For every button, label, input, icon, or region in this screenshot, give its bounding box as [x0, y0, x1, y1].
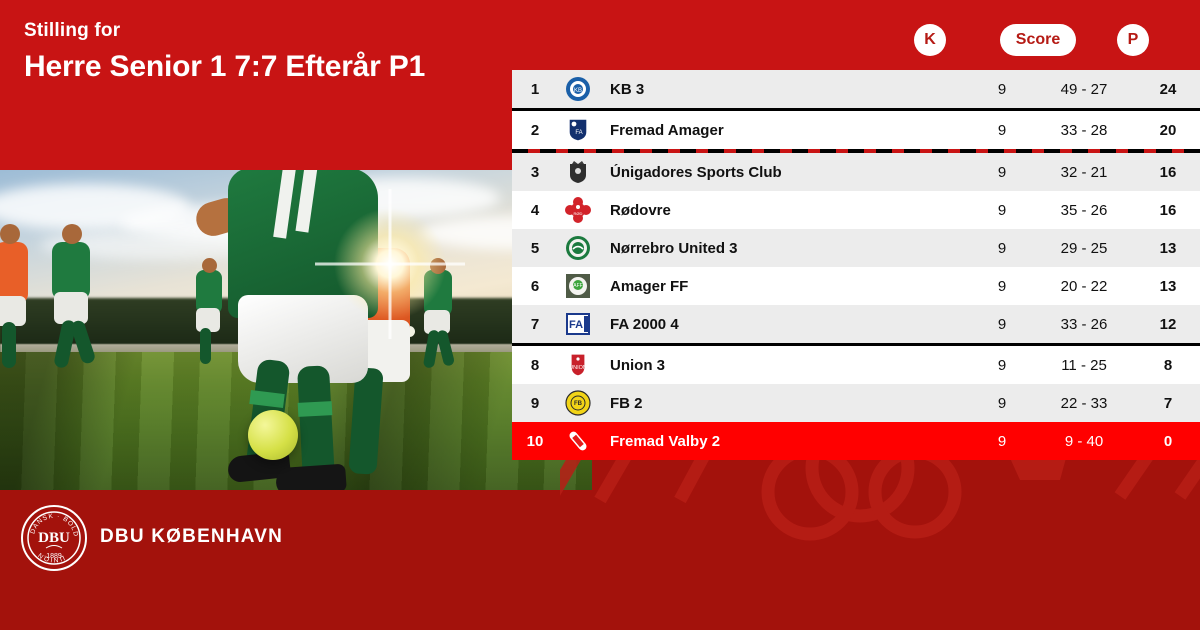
table-header: K Score P	[512, 0, 1200, 70]
row-score: 9 - 40	[1032, 433, 1136, 450]
svg-text:·1889·: ·1889·	[44, 553, 64, 560]
svg-text:FB: FB	[574, 401, 583, 407]
page-kicker: Stilling for	[24, 20, 494, 43]
row-matches: 9	[972, 278, 1032, 295]
row-score: 29 - 25	[1032, 240, 1136, 257]
row-points: 7	[1136, 395, 1200, 412]
dbu-seal-logo-icon: DANSK · BOLDSPIL · UNION DBU ·1889·	[20, 504, 88, 572]
svg-text:RØD: RØD	[574, 211, 583, 216]
row-position: 1	[512, 81, 558, 98]
fb2-crest-icon: FB	[558, 390, 598, 416]
background-player	[54, 292, 88, 324]
row-position: 9	[512, 395, 558, 412]
row-score: 49 - 27	[1032, 81, 1136, 98]
row-points: 16	[1136, 202, 1200, 219]
table-row[interactable]: 4 RØD Rødovre 9 35 - 26 16	[512, 191, 1200, 229]
row-score: 11 - 25	[1032, 357, 1136, 374]
kb3-crest-icon: KB	[558, 76, 598, 102]
column-header-p: P	[1117, 24, 1149, 56]
row-position: 8	[512, 357, 558, 374]
foreground-player	[275, 464, 347, 490]
row-team-name: Fremad Valby 2	[598, 433, 972, 450]
row-score: 33 - 28	[1032, 122, 1136, 139]
column-header-score: Score	[1000, 24, 1076, 56]
row-position: 4	[512, 202, 558, 219]
table-row[interactable]: 2 FA Fremad Amager 9 33 - 28 20	[512, 111, 1200, 149]
footer: DANSK · BOLDSPIL · UNION DBU ·1889· DBU …	[0, 490, 1200, 630]
table-row[interactable]: 1 KB KB 3 9 49 - 27 24	[512, 70, 1200, 108]
norrebro-united-crest-icon	[558, 235, 598, 261]
row-team-name: Únigadores Sports Club	[598, 164, 972, 181]
row-matches: 9	[972, 240, 1032, 257]
row-team-name: FB 2	[598, 395, 972, 412]
svg-text:KB: KB	[574, 88, 582, 94]
column-header-k: K	[914, 24, 946, 56]
table-row[interactable]: 7 FA FA 2000 4 9 33 - 26 12	[512, 305, 1200, 343]
svg-text:FA: FA	[575, 130, 582, 136]
row-team-name: Amager FF	[598, 278, 972, 295]
row-matches: 9	[972, 202, 1032, 219]
svg-text:FA: FA	[569, 319, 583, 331]
fremad-valby-crest-icon	[558, 428, 598, 454]
table-row[interactable]: 5 Nørrebro United 3 9 29 - 25 13	[512, 229, 1200, 267]
row-points: 16	[1136, 164, 1200, 181]
row-position: 10	[512, 433, 558, 450]
row-position: 6	[512, 278, 558, 295]
amager-ff-crest-icon: AFF	[558, 273, 598, 299]
row-points: 13	[1136, 278, 1200, 295]
table-row[interactable]: 8 UNION Union 3 9 11 - 25 8	[512, 346, 1200, 384]
row-score: 22 - 33	[1032, 395, 1136, 412]
row-team-name: KB 3	[598, 81, 972, 98]
table-row[interactable]: 9 FB FB 2 9 22 - 33 7	[512, 384, 1200, 422]
row-score: 20 - 22	[1032, 278, 1136, 295]
page-title: Herre Senior 1 7:7 Efterår P1	[24, 49, 494, 84]
table-row[interactable]: 10 Fremad Valby 2 9 9 - 40 0	[512, 422, 1200, 460]
unigadores-crest-icon	[558, 159, 598, 185]
row-position: 5	[512, 240, 558, 257]
row-score: 35 - 26	[1032, 202, 1136, 219]
row-team-name: Fremad Amager	[598, 122, 972, 139]
row-team-name: Nørrebro United 3	[598, 240, 972, 257]
background-player	[0, 224, 20, 244]
table-row[interactable]: 3 Únigadores Sports Club 9 32 - 21 16	[512, 153, 1200, 191]
row-points: 0	[1136, 433, 1200, 450]
sun-lens-flare	[330, 204, 450, 324]
row-score: 32 - 21	[1032, 164, 1136, 181]
row-matches: 9	[972, 164, 1032, 181]
background-player	[0, 242, 28, 304]
row-matches: 9	[972, 395, 1032, 412]
background-player	[202, 258, 217, 273]
svg-text:AFF: AFF	[573, 283, 582, 289]
row-points: 24	[1136, 81, 1200, 98]
row-position: 7	[512, 316, 558, 333]
standings-table: K Score P 1 KB KB 3 9 49 - 27 24 2 FA Fr…	[512, 0, 1200, 460]
title-block: Stilling for Herre Senior 1 7:7 Efterår …	[24, 20, 494, 84]
row-team-name: Rødovre	[598, 202, 972, 219]
fa2000-crest-icon: FA	[558, 311, 598, 337]
table-row[interactable]: 6 AFF Amager FF 9 20 - 22 13	[512, 267, 1200, 305]
svg-text:DBU: DBU	[38, 530, 70, 546]
row-points: 8	[1136, 357, 1200, 374]
background-player	[62, 224, 82, 244]
svg-text:UNION: UNION	[569, 365, 587, 371]
row-matches: 9	[972, 81, 1032, 98]
row-position: 3	[512, 164, 558, 181]
football-match-photo	[0, 170, 592, 490]
fremad-amager-crest-icon: FA	[558, 117, 598, 143]
row-matches: 9	[972, 357, 1032, 374]
rodovre-crest-icon: RØD	[558, 197, 598, 223]
football-ball	[248, 410, 298, 460]
background-player	[200, 328, 211, 364]
row-points: 20	[1136, 122, 1200, 139]
background-player	[0, 296, 26, 326]
foreground-player	[298, 401, 333, 417]
row-matches: 9	[972, 122, 1032, 139]
background-player	[2, 322, 16, 368]
row-team-name: FA 2000 4	[598, 316, 972, 333]
row-matches: 9	[972, 433, 1032, 450]
row-matches: 9	[972, 316, 1032, 333]
row-position: 2	[512, 122, 558, 139]
row-team-name: Union 3	[598, 357, 972, 374]
row-points: 12	[1136, 316, 1200, 333]
row-points: 13	[1136, 240, 1200, 257]
footer-org-name: DBU KØBENHAVN	[100, 526, 283, 548]
union-crest-icon: UNION	[558, 352, 598, 378]
row-score: 33 - 26	[1032, 316, 1136, 333]
